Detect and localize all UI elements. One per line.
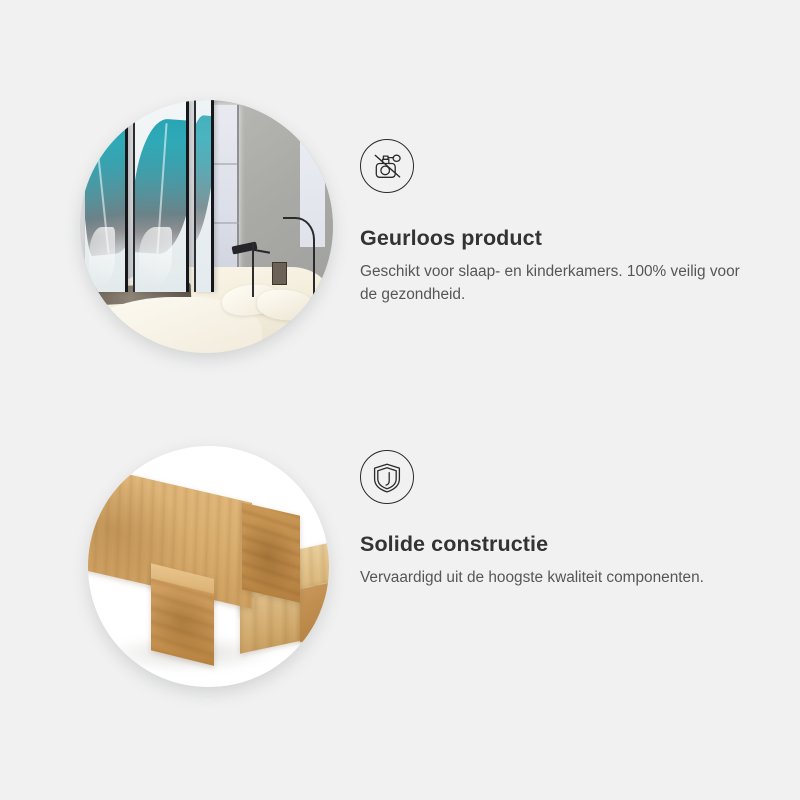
page-title: Geurloos product <box>360 193 760 252</box>
feature-text-column: Solide constructie Vervaardigd uit de ho… <box>360 450 760 590</box>
panel-edge <box>125 100 128 292</box>
wooden-beams-photo <box>88 446 329 687</box>
photo-inner <box>88 446 329 687</box>
feature-description: Vervaardigd uit de hoogste kwaliteit com… <box>360 558 752 590</box>
canvas-panel <box>85 100 128 292</box>
bedroom-feather-artwork-photo <box>80 100 333 353</box>
canvas-panel <box>133 100 189 292</box>
canvas-panel <box>194 100 214 292</box>
wall-lamp-stem <box>313 252 315 298</box>
photo-inner <box>80 100 333 353</box>
wooden-beam-end-grain <box>242 502 300 602</box>
no-fragrance-icon <box>360 139 414 193</box>
panel-edge <box>133 100 135 292</box>
page-title: Solide constructie <box>360 504 760 558</box>
panel-edge <box>186 100 189 292</box>
feature-block: Geurloos product Geschikt voor slaap- en… <box>0 30 800 390</box>
panel-edge <box>194 100 196 292</box>
room-background <box>80 100 333 353</box>
panel-edge <box>211 100 214 292</box>
wood-scene <box>88 446 329 687</box>
feature-text-column: Geurloos product Geschikt voor slaap- en… <box>360 139 760 306</box>
wooden-beam-end-grain <box>300 582 329 642</box>
feather-wisp <box>89 227 115 285</box>
window-frame-right <box>237 105 239 282</box>
picture-frame <box>272 262 287 284</box>
feature-description: Geschikt voor slaap- en kinderkamers. 10… <box>360 252 752 307</box>
desk-lamp-pole <box>252 242 254 298</box>
feature-block: Solide constructie Vervaardigd uit de ho… <box>0 395 800 755</box>
shield-icon <box>360 450 414 504</box>
wooden-beam-end-grain <box>151 578 214 666</box>
feather-wisp <box>139 227 172 285</box>
